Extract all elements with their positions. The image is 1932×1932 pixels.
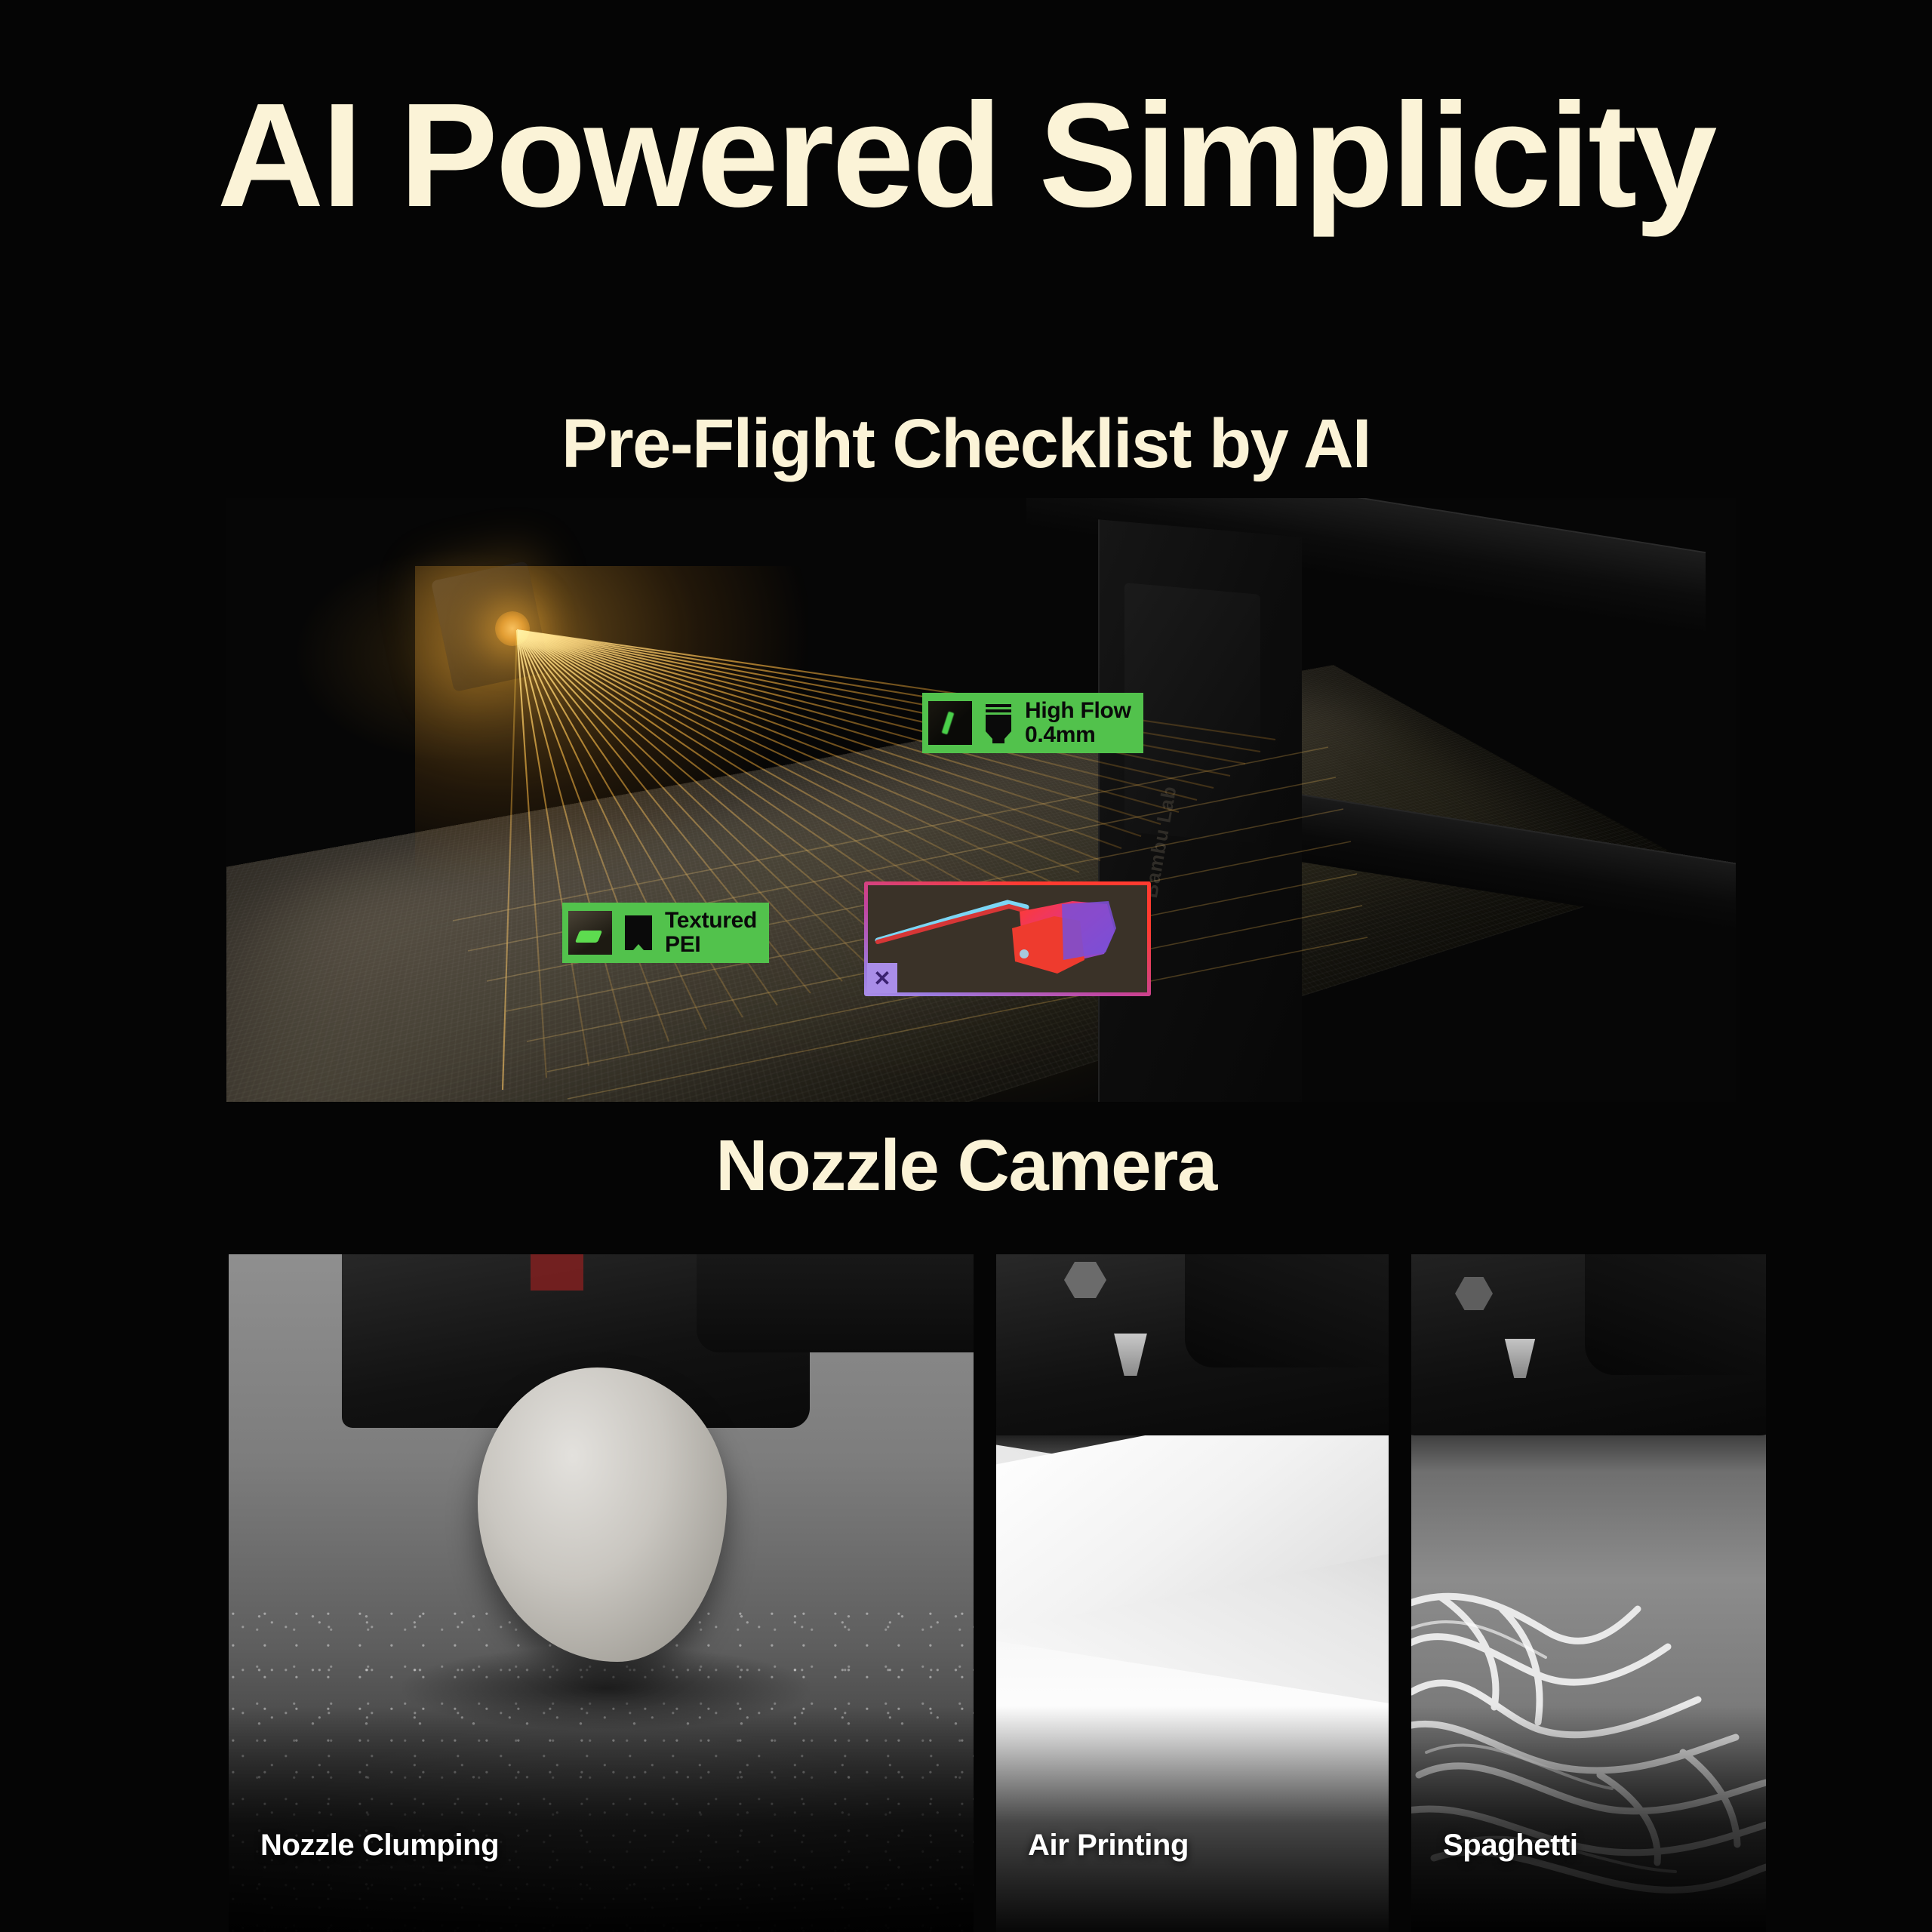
panel-caption-nozzle-clumping: Nozzle Clumping xyxy=(260,1829,499,1863)
printer-scene: Bambu Lab xyxy=(226,498,1736,1102)
nozzle-camera-panel-group: Nozzle Clumping Air Printing xyxy=(0,1254,1932,1932)
badge-textured-pei-label: Textured PEI xyxy=(665,909,757,957)
panel-bottom-fade xyxy=(996,1706,1389,1932)
nozzle-camera-section-title: Nozzle Camera xyxy=(0,1124,1932,1207)
panel-caption-spaghetti: Spaghetti xyxy=(1443,1829,1578,1863)
panel-spaghetti[interactable]: Spaghetti xyxy=(1411,1254,1766,1932)
panel-caption-air-printing: Air Printing xyxy=(1028,1829,1189,1863)
toolhead-silhouette-right xyxy=(1585,1254,1766,1375)
preflight-section-title: Pre-Flight Checklist by AI xyxy=(0,405,1932,484)
poster-root: AI Powered Simplicity Pre-Flight Checkli… xyxy=(0,0,1932,1932)
build-plate-icon xyxy=(621,911,656,955)
toolhead-silhouette-right xyxy=(1185,1254,1389,1367)
toolhead-silhouette-right xyxy=(697,1254,974,1352)
nozzle-icon xyxy=(981,701,1016,745)
detection-close-icon[interactable]: ✕ xyxy=(867,963,897,993)
panel-bottom-fade xyxy=(1411,1706,1766,1932)
panel-bottom-fade xyxy=(229,1706,974,1932)
detection-mask xyxy=(868,885,1147,992)
badge-textured-pei[interactable]: Textured PEI xyxy=(562,903,769,963)
filament-clump-blob xyxy=(478,1367,727,1662)
object-detection-box[interactable]: ✕ xyxy=(864,881,1151,996)
badge-high-flow[interactable]: High Flow 0.4mm xyxy=(922,693,1143,753)
badge-high-flow-label: High Flow 0.4mm xyxy=(1025,699,1131,747)
panel-nozzle-clumping[interactable]: Nozzle Clumping xyxy=(229,1254,974,1932)
toolhead-panel xyxy=(1124,583,1260,844)
build-plate-thumbnail-icon xyxy=(568,911,612,955)
toolhead-red-accent xyxy=(531,1254,583,1291)
laser-lens-icon xyxy=(495,611,530,646)
page-title: AI Powered Simplicity xyxy=(0,82,1932,229)
panel-air-printing[interactable]: Air Printing xyxy=(996,1254,1389,1932)
nozzle-thumbnail-icon xyxy=(928,701,972,745)
